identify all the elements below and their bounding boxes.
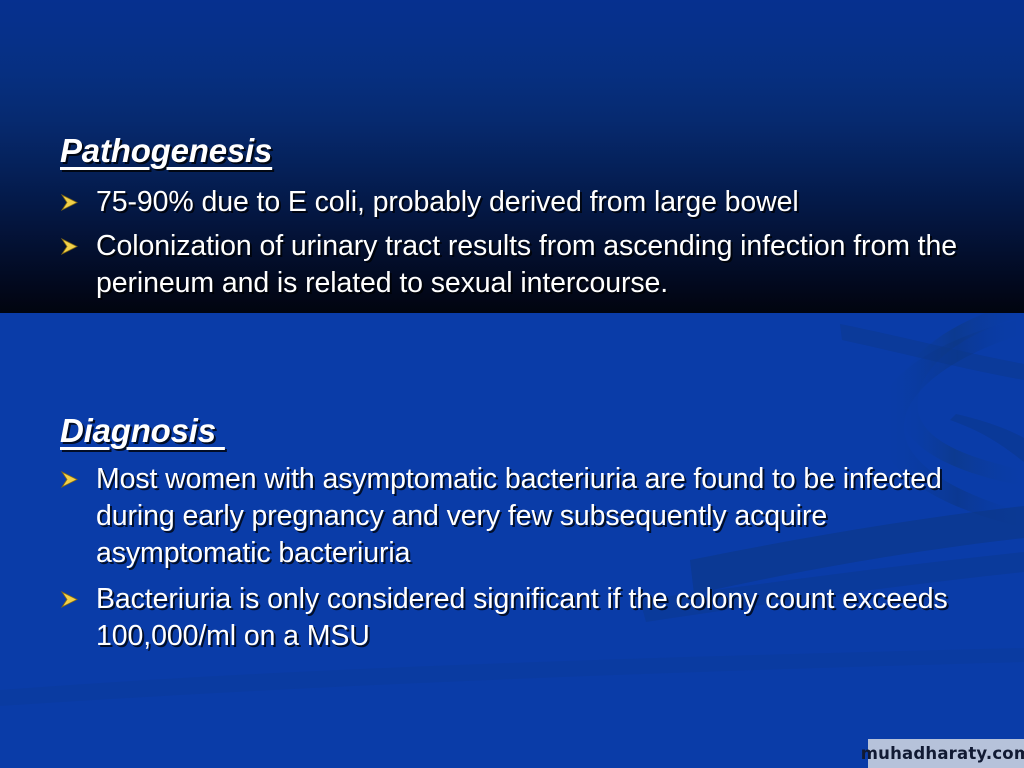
arrowhead-bullet-icon xyxy=(58,228,96,262)
bullet-item: Bacteriuria is only considered significa… xyxy=(58,581,976,655)
watermark-badge: muhadharaty.com xyxy=(868,739,1024,768)
slide-canvas: Pathogenesis 75-90% due to E coli, proba… xyxy=(0,0,1024,768)
bullet-text: Colonization of urinary tract results fr… xyxy=(96,228,976,302)
bullet-text: Most women with asymptomatic bacteriuria… xyxy=(96,461,976,572)
bullet-item: Most women with asymptomatic bacteriuria… xyxy=(58,461,976,572)
bullet-item: Colonization of urinary tract results fr… xyxy=(58,228,976,302)
section-heading-diagnosis: Diagnosis xyxy=(60,414,225,447)
watermark-label: muhadharaty.com xyxy=(861,744,1024,763)
arrowhead-bullet-icon xyxy=(58,581,96,615)
section-heading-pathogenesis: Pathogenesis xyxy=(60,134,272,167)
arrowhead-bullet-icon xyxy=(58,461,96,495)
slide-content: Pathogenesis 75-90% due to E coli, proba… xyxy=(0,0,1024,768)
arrowhead-bullet-icon xyxy=(58,184,96,218)
bullet-text: Bacteriuria is only considered significa… xyxy=(96,581,976,655)
bullet-text: 75-90% due to E coli, probably derived f… xyxy=(96,184,799,221)
bullet-item: 75-90% due to E coli, probably derived f… xyxy=(58,184,799,221)
